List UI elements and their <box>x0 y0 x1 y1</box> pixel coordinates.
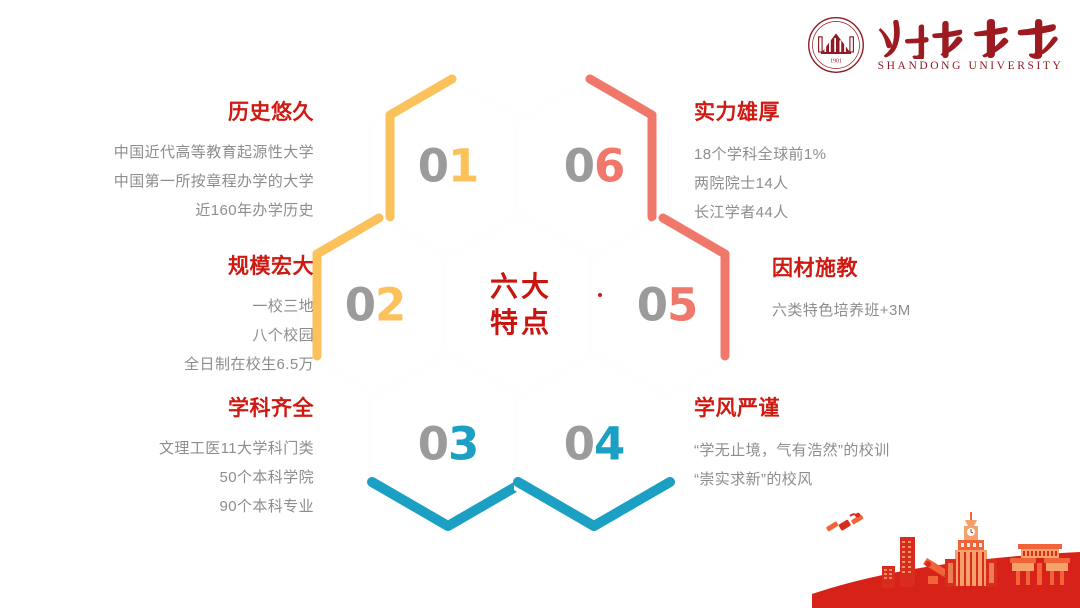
hexagon-05-number-gray: 0 <box>637 279 667 332</box>
hexagon-04[interactable]: 04 <box>514 352 674 536</box>
feature-block-strength: 实力雄厚 18个学科全球前1% 两院院士14人 长江学者44人 <box>694 96 994 222</box>
feature-line: 50个本科学院 <box>52 469 314 488</box>
hexagon-05-number: 05 <box>587 283 747 328</box>
feature-line: 90个本科专业 <box>52 498 314 517</box>
decorative-red-dot <box>598 293 602 297</box>
hexagon-02-number-gray: 0 <box>345 279 375 332</box>
hexagon-04-number: 04 <box>514 422 674 467</box>
logo-english-name: SHANDONG UNIVERSITY <box>878 60 1064 72</box>
hexagon-center-label: 六大 特点 <box>441 269 601 341</box>
hexagon-02-number: 02 <box>295 283 455 328</box>
hexagon-03-number-accent: 3 <box>448 418 478 471</box>
hexagon-03[interactable]: 03 <box>368 352 528 536</box>
feature-title-history: 历史悠久 <box>52 96 314 126</box>
feature-line: 中国第一所按章程办学的大学 <box>52 173 314 192</box>
logo-seal-icon: 1901 <box>807 16 865 74</box>
feature-block-history: 历史悠久 中国近代高等教育起源性大学 中国第一所按章程办学的大学 近160年办学… <box>52 96 314 220</box>
hexagon-02-number-accent: 2 <box>375 279 405 332</box>
logo-seal-year: 1901 <box>830 58 842 64</box>
feature-block-scale: 规模宏大 一校三地 八个校园 全日制在校生6.5万 <box>52 250 314 374</box>
hexagon-03-number: 03 <box>368 422 528 467</box>
feature-line: 六类特色培养班+3M <box>772 302 1072 321</box>
slide-canvas: 1901 SHAN <box>0 0 1080 608</box>
university-logo: 1901 SHAN <box>807 16 1066 74</box>
feature-block-disciplines: 学科齐全 文理工医11大学科门类 50个本科学院 90个本科专业 <box>52 392 314 516</box>
feature-line: “学无止境，气有浩然”的校训 <box>694 442 994 461</box>
center-line-2: 特点 <box>441 305 601 341</box>
feature-line: 中国近代高等教育起源性大学 <box>52 144 314 163</box>
gate-building-icon <box>1010 544 1070 585</box>
hexagon-05-number-accent: 5 <box>667 279 697 332</box>
feature-line: 八个校园 <box>52 327 314 346</box>
hexagon-01-number: 01 <box>368 144 528 189</box>
logo-chinese-name-icon <box>875 19 1066 59</box>
feature-line: 两院院士14人 <box>694 175 994 194</box>
feature-line: 一校三地 <box>52 298 314 317</box>
feature-block-ethos: 学风严谨 “学无止境，气有浩然”的校训 “崇实求新”的校风 <box>694 392 994 490</box>
feature-line: 文理工医11大学科门类 <box>52 440 314 459</box>
hexagon-04-number-gray: 0 <box>564 418 594 471</box>
bottom-decoration-illustration <box>812 504 1080 608</box>
feature-title-disciplines: 学科齐全 <box>52 392 314 422</box>
hexagon-06-number-gray: 0 <box>564 140 594 193</box>
clock-tower-building-icon <box>945 512 997 587</box>
feature-line: 近160年办学历史 <box>52 202 314 221</box>
hexagon-06-number: 06 <box>514 144 674 189</box>
satellite-icon <box>826 513 864 532</box>
feature-block-teaching: 因材施教 六类特色培养班+3M <box>772 252 1072 321</box>
center-line-1: 六大 <box>441 269 601 305</box>
feature-title-ethos: 学风严谨 <box>694 392 994 422</box>
small-building-icon <box>882 566 895 588</box>
feature-title-strength: 实力雄厚 <box>694 96 994 126</box>
feature-line: “崇实求新”的校风 <box>694 471 994 490</box>
feature-line: 全日制在校生6.5万 <box>52 356 314 375</box>
hexagon-01-number-accent: 1 <box>448 140 478 193</box>
feature-line: 18个学科全球前1% <box>694 146 994 165</box>
hexagon-06-number-accent: 6 <box>594 140 624 193</box>
feature-title-scale: 规模宏大 <box>52 250 314 280</box>
hexagon-04-number-accent: 4 <box>594 418 624 471</box>
logo-wordmark: SHANDONG UNIVERSITY <box>875 19 1066 72</box>
hexagon-03-number-gray: 0 <box>418 418 448 471</box>
hexagon-01-number-gray: 0 <box>418 140 448 193</box>
tall-tower-icon <box>900 537 915 587</box>
feature-line: 长江学者44人 <box>694 204 994 223</box>
hexagon-cluster: 01 06 02 六大 <box>258 74 728 524</box>
feature-title-teaching: 因材施教 <box>772 252 1072 282</box>
